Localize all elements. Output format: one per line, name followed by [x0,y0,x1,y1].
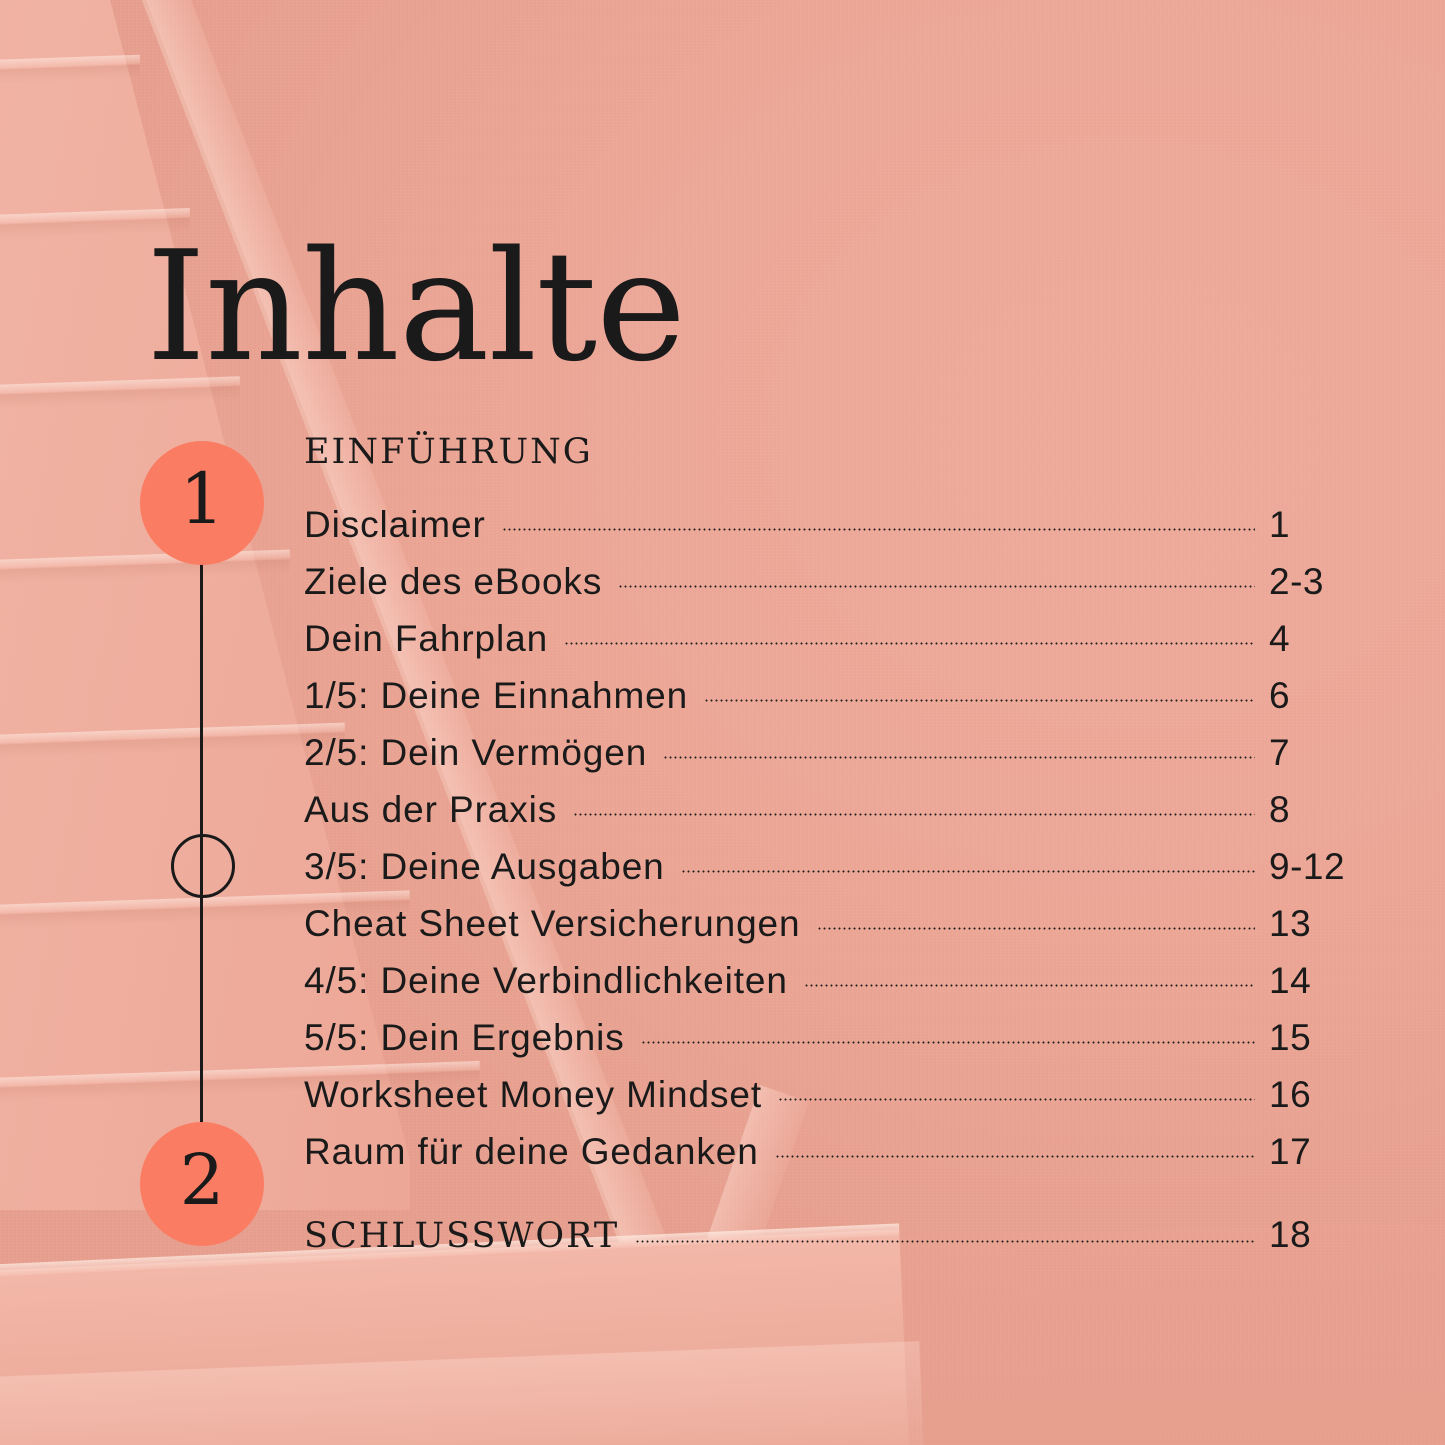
toc-entry-label: Dein Fahrplan [304,618,548,660]
toc-page-number: 16 [1269,1074,1389,1116]
toc-entry-label: 4/5: Deine Verbindlichkeiten [304,960,788,1002]
toc-page-number: 18 [1269,1214,1389,1256]
toc-leader-dots [663,756,1255,759]
toc-entry[interactable]: 1/5: Deine Einnahmen 6 [304,675,1389,732]
toc-leader-dots [778,1098,1255,1101]
timeline-marker-1: 1 [140,441,264,565]
toc-page-number: 2-3 [1269,561,1389,603]
toc-page-number: 1 [1269,504,1389,546]
toc-entry[interactable]: 3/5: Deine Ausgaben 9-12 [304,846,1389,903]
toc-entry-label: Disclaimer [304,504,486,546]
page-content: Inhalte 1 2 EINFÜHRUNG Disclaimer 1 Ziel… [0,0,1445,1445]
toc-leader-dots [564,642,1255,645]
toc-page-number: 9-12 [1269,846,1389,888]
toc-entry-label: 1/5: Deine Einnahmen [304,675,688,717]
toc-entry-label: 2/5: Dein Vermögen [304,732,647,774]
toc-page-number: 8 [1269,789,1389,831]
toc-entry[interactable]: 2/5: Dein Vermögen 7 [304,732,1389,789]
timeline-marker-1-label: 1 [180,464,225,534]
toc-page-number: 14 [1269,960,1389,1002]
toc-entry[interactable]: Dein Fahrplan 4 [304,618,1389,675]
toc-page: Inhalte 1 2 EINFÜHRUNG Disclaimer 1 Ziel… [0,0,1445,1445]
table-of-contents: EINFÜHRUNG Disclaimer 1 Ziele des eBooks… [304,432,1389,1264]
toc-entry[interactable]: Aus der Praxis 8 [304,789,1389,846]
toc-entry[interactable]: Worksheet Money Mindset 16 [304,1074,1389,1131]
toc-leader-dots [635,1240,1255,1243]
toc-section-label: EINFÜHRUNG [304,432,593,472]
toc-leader-dots [817,927,1255,930]
toc-page-number: 13 [1269,903,1389,945]
toc-entry[interactable]: Ziele des eBooks 2-3 [304,561,1389,618]
toc-leader-dots [704,699,1255,702]
toc-entry-label: 3/5: Deine Ausgaben [304,846,665,888]
toc-leader-dots [804,984,1255,987]
toc-page-number: 15 [1269,1017,1389,1059]
toc-section-schlusswort[interactable]: SCHLUSSWORT 18 [304,1214,1389,1264]
toc-entry[interactable]: 5/5: Dein Ergebnis 15 [304,1017,1389,1074]
toc-entry[interactable]: Raum für deine Gedanken 17 [304,1131,1389,1188]
timeline-marker-2-label: 2 [180,1145,225,1215]
toc-leader-dots [502,528,1255,531]
toc-section-einfuehrung: EINFÜHRUNG [304,432,1389,482]
toc-entry-label: Cheat Sheet Versicherungen [304,903,801,945]
toc-entry[interactable]: Disclaimer 1 [304,504,1389,561]
toc-entry-label: Worksheet Money Mindset [304,1074,762,1116]
toc-page-number: 7 [1269,732,1389,774]
toc-page-number: 6 [1269,675,1389,717]
toc-entry-label: 5/5: Dein Ergebnis [304,1017,625,1059]
timeline-node-icon [171,834,235,898]
toc-section-label: SCHLUSSWORT [304,1216,619,1256]
page-title: Inhalte [146,231,685,383]
toc-entry-label: Aus der Praxis [304,789,557,831]
toc-entry[interactable]: 4/5: Deine Verbindlichkeiten 14 [304,960,1389,1017]
toc-leader-dots [681,870,1255,873]
toc-leader-dots [641,1041,1255,1044]
toc-entry-label: Ziele des eBooks [304,561,602,603]
spacer [304,482,1389,504]
timeline-marker-2: 2 [140,1122,264,1246]
toc-leader-dots [775,1155,1255,1158]
toc-page-number: 17 [1269,1131,1389,1173]
toc-leader-dots [573,813,1255,816]
toc-leader-dots [618,585,1255,588]
toc-page-number: 4 [1269,618,1389,660]
spacer [304,1188,1389,1214]
toc-entry-label: Raum für deine Gedanken [304,1131,759,1173]
toc-entry[interactable]: Cheat Sheet Versicherungen 13 [304,903,1389,960]
